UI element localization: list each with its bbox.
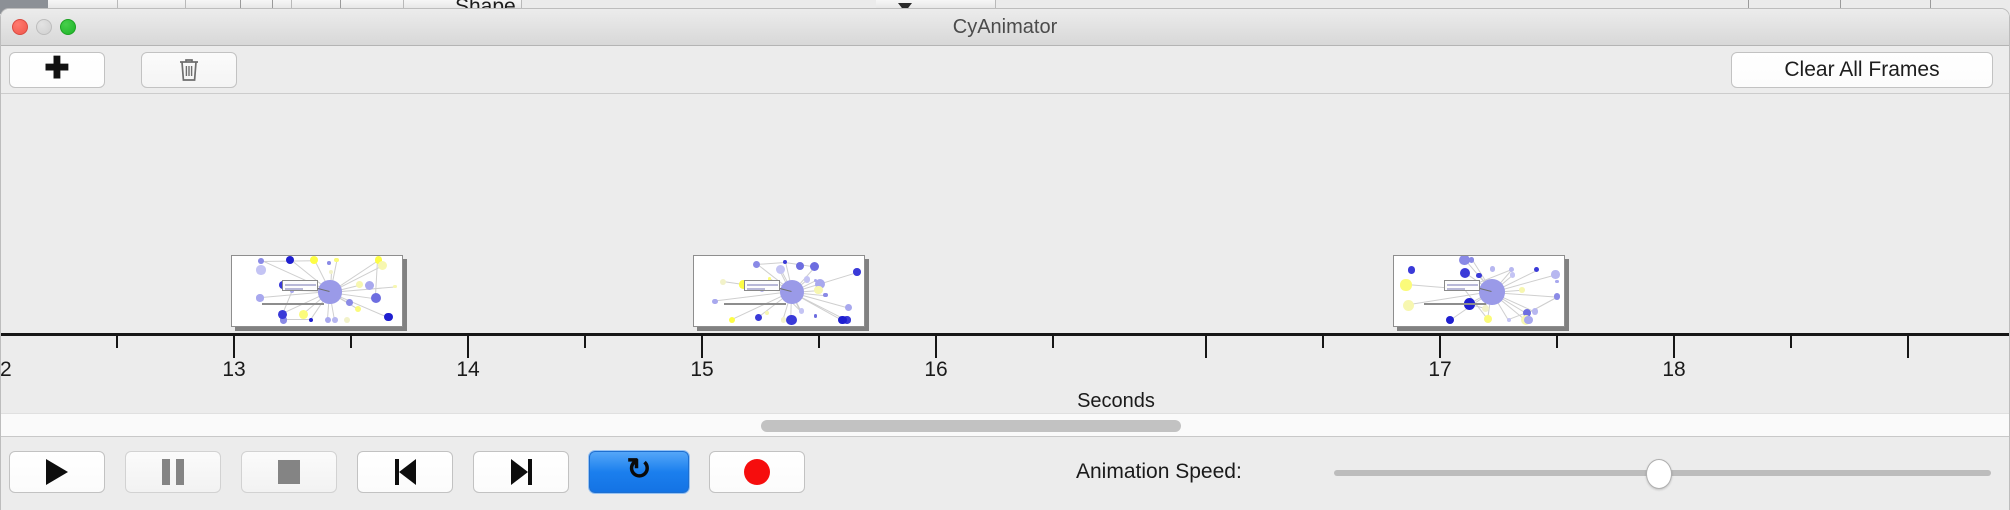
add-frame-button[interactable]: ✚ xyxy=(9,52,105,88)
trash-icon xyxy=(178,57,200,83)
network-node xyxy=(814,314,817,317)
network-node xyxy=(720,279,726,285)
annotation-text-line xyxy=(285,288,303,290)
network-node xyxy=(299,310,308,319)
skip-to-end-icon xyxy=(511,459,532,485)
network-node xyxy=(796,262,804,270)
network-caption-text xyxy=(1424,303,1486,305)
network-node xyxy=(804,276,811,283)
timeline-tick-minor xyxy=(1790,336,1792,348)
plus-icon: ✚ xyxy=(44,54,69,84)
network-node xyxy=(1555,280,1559,284)
network-node xyxy=(1403,300,1414,311)
network-hub-node xyxy=(780,280,804,304)
network-node xyxy=(327,261,331,265)
skip-to-start-icon xyxy=(395,459,416,485)
pause-icon xyxy=(162,459,184,485)
network-node xyxy=(371,293,381,303)
timeline-tick-label: 15 xyxy=(690,358,713,382)
network-node xyxy=(1532,308,1538,314)
timeline-tick-minor xyxy=(584,336,586,348)
delete-frame-button[interactable] xyxy=(141,52,237,88)
timeline-tick-major xyxy=(1673,336,1675,358)
network-node xyxy=(356,281,363,288)
pause-button xyxy=(125,451,221,493)
timeline-tick-label: 18 xyxy=(1662,358,1685,382)
network-node xyxy=(1408,266,1415,273)
network-node xyxy=(755,314,762,321)
network-thumbnail xyxy=(694,256,864,326)
stop-button xyxy=(241,451,337,493)
network-node xyxy=(1476,273,1481,278)
timeline-tick-major xyxy=(233,336,235,358)
network-edge xyxy=(283,319,311,320)
network-node xyxy=(355,306,361,312)
network-node xyxy=(1446,316,1454,324)
network-node xyxy=(823,293,828,298)
timeline-axis-line xyxy=(1,333,2009,336)
network-node xyxy=(1482,305,1489,312)
network-node xyxy=(278,310,287,319)
timeline-frame-thumbnail[interactable] xyxy=(1393,255,1565,327)
timeline-axis-title: Seconds xyxy=(1077,390,1155,413)
timeline-scrollbar-thumb[interactable] xyxy=(761,420,1181,432)
window-titlebar: CyAnimator xyxy=(1,9,2009,46)
frame-toolbar: ✚ Clear All Frames xyxy=(1,46,2009,94)
network-node xyxy=(1484,315,1492,323)
timeline-frame-thumbnail[interactable] xyxy=(231,255,403,327)
network-thumbnail xyxy=(232,256,402,326)
network-node xyxy=(786,315,797,326)
network-annotation-box xyxy=(282,280,318,291)
annotation-text-line xyxy=(1447,284,1478,286)
loop-icon: ↻ xyxy=(626,455,651,485)
loop-button[interactable]: ↻ xyxy=(589,451,689,493)
timeline-tick-minor xyxy=(1322,336,1324,348)
network-node xyxy=(1534,267,1539,272)
network-node xyxy=(1554,293,1560,299)
network-node xyxy=(729,317,735,323)
stop-icon xyxy=(278,460,300,484)
network-thumbnail xyxy=(1394,256,1564,326)
network-node xyxy=(1460,268,1470,278)
timeline-tick-minor xyxy=(818,336,820,348)
annotation-text-line xyxy=(285,284,316,286)
network-node xyxy=(853,268,861,276)
skip-end-button[interactable] xyxy=(473,451,569,493)
network-node xyxy=(765,311,769,315)
skip-start-button[interactable] xyxy=(357,451,453,493)
timeline-tick-minor xyxy=(350,336,352,348)
timeline-tick-major xyxy=(1205,336,1207,358)
network-hub-node xyxy=(318,280,341,303)
network-node xyxy=(309,318,313,322)
network-node xyxy=(1400,279,1411,290)
network-node xyxy=(1510,272,1516,278)
timeline-frame-thumbnail[interactable] xyxy=(693,255,865,327)
network-node xyxy=(838,316,847,325)
network-node xyxy=(753,261,760,268)
network-node xyxy=(810,262,819,271)
network-node xyxy=(344,317,350,323)
timeline-tick-major xyxy=(935,336,937,358)
network-node xyxy=(256,265,265,274)
network-node xyxy=(332,317,338,323)
network-caption-text xyxy=(724,303,786,305)
timeline-tick-minor xyxy=(116,336,118,348)
network-node xyxy=(845,304,853,312)
network-node xyxy=(781,317,786,322)
timeline-tick-label: 17 xyxy=(1428,358,1451,382)
timeline-tick-label: 12 xyxy=(1,358,12,382)
record-icon xyxy=(744,459,770,485)
timeline-tick-label: 13 xyxy=(222,358,245,382)
timeline-scrollbar[interactable] xyxy=(1,413,2009,437)
timeline-tick-major xyxy=(701,336,703,358)
network-annotation-box xyxy=(744,280,780,291)
timeline-tick-label: 14 xyxy=(456,358,479,382)
network-hub-node xyxy=(1479,279,1505,305)
record-button[interactable] xyxy=(709,451,805,493)
network-node xyxy=(1519,287,1525,293)
playback-toolbar: ↻ Animation Speed: xyxy=(1,437,2009,507)
network-node xyxy=(384,313,393,322)
network-node xyxy=(325,317,331,323)
clear-all-frames-button[interactable]: Clear All Frames xyxy=(1731,52,1993,88)
timeline-panel[interactable]: 12131415161718 Seconds xyxy=(1,94,2009,413)
network-node xyxy=(1524,316,1533,325)
network-node xyxy=(1469,257,1474,262)
clear-all-frames-label: Clear All Frames xyxy=(1784,58,1939,82)
network-caption-text xyxy=(262,303,324,305)
cyanimator-window: CyAnimator ✚ Clear All Frames 1213141516… xyxy=(0,8,2010,510)
network-node xyxy=(799,308,804,313)
network-node xyxy=(393,285,397,289)
timeline-tick-major xyxy=(467,336,469,358)
network-node xyxy=(256,294,263,301)
window-title: CyAnimator xyxy=(1,16,2009,39)
timeline-tick-minor xyxy=(1556,336,1558,348)
network-node xyxy=(334,258,339,263)
network-node xyxy=(1490,266,1495,271)
timeline-tick-major xyxy=(1439,336,1441,358)
play-icon xyxy=(46,459,68,485)
animation-speed-slider-thumb[interactable] xyxy=(1646,459,1672,489)
network-node xyxy=(712,299,717,304)
annotation-text-line xyxy=(1447,288,1465,290)
network-node xyxy=(258,258,264,264)
network-node xyxy=(329,270,333,274)
animation-speed-label: Animation Speed: xyxy=(1076,460,1242,484)
network-node xyxy=(378,261,387,270)
network-node xyxy=(814,286,822,294)
annotation-text-line xyxy=(747,288,765,290)
network-node xyxy=(1507,318,1511,322)
timeline-tick-minor xyxy=(1052,336,1054,348)
timeline-tick-major xyxy=(1907,336,1909,358)
annotation-text-line xyxy=(747,284,778,286)
play-button[interactable] xyxy=(9,451,105,493)
network-annotation-box xyxy=(1444,280,1480,291)
timeline-tick-label: 16 xyxy=(924,358,947,382)
network-node xyxy=(1551,270,1559,278)
